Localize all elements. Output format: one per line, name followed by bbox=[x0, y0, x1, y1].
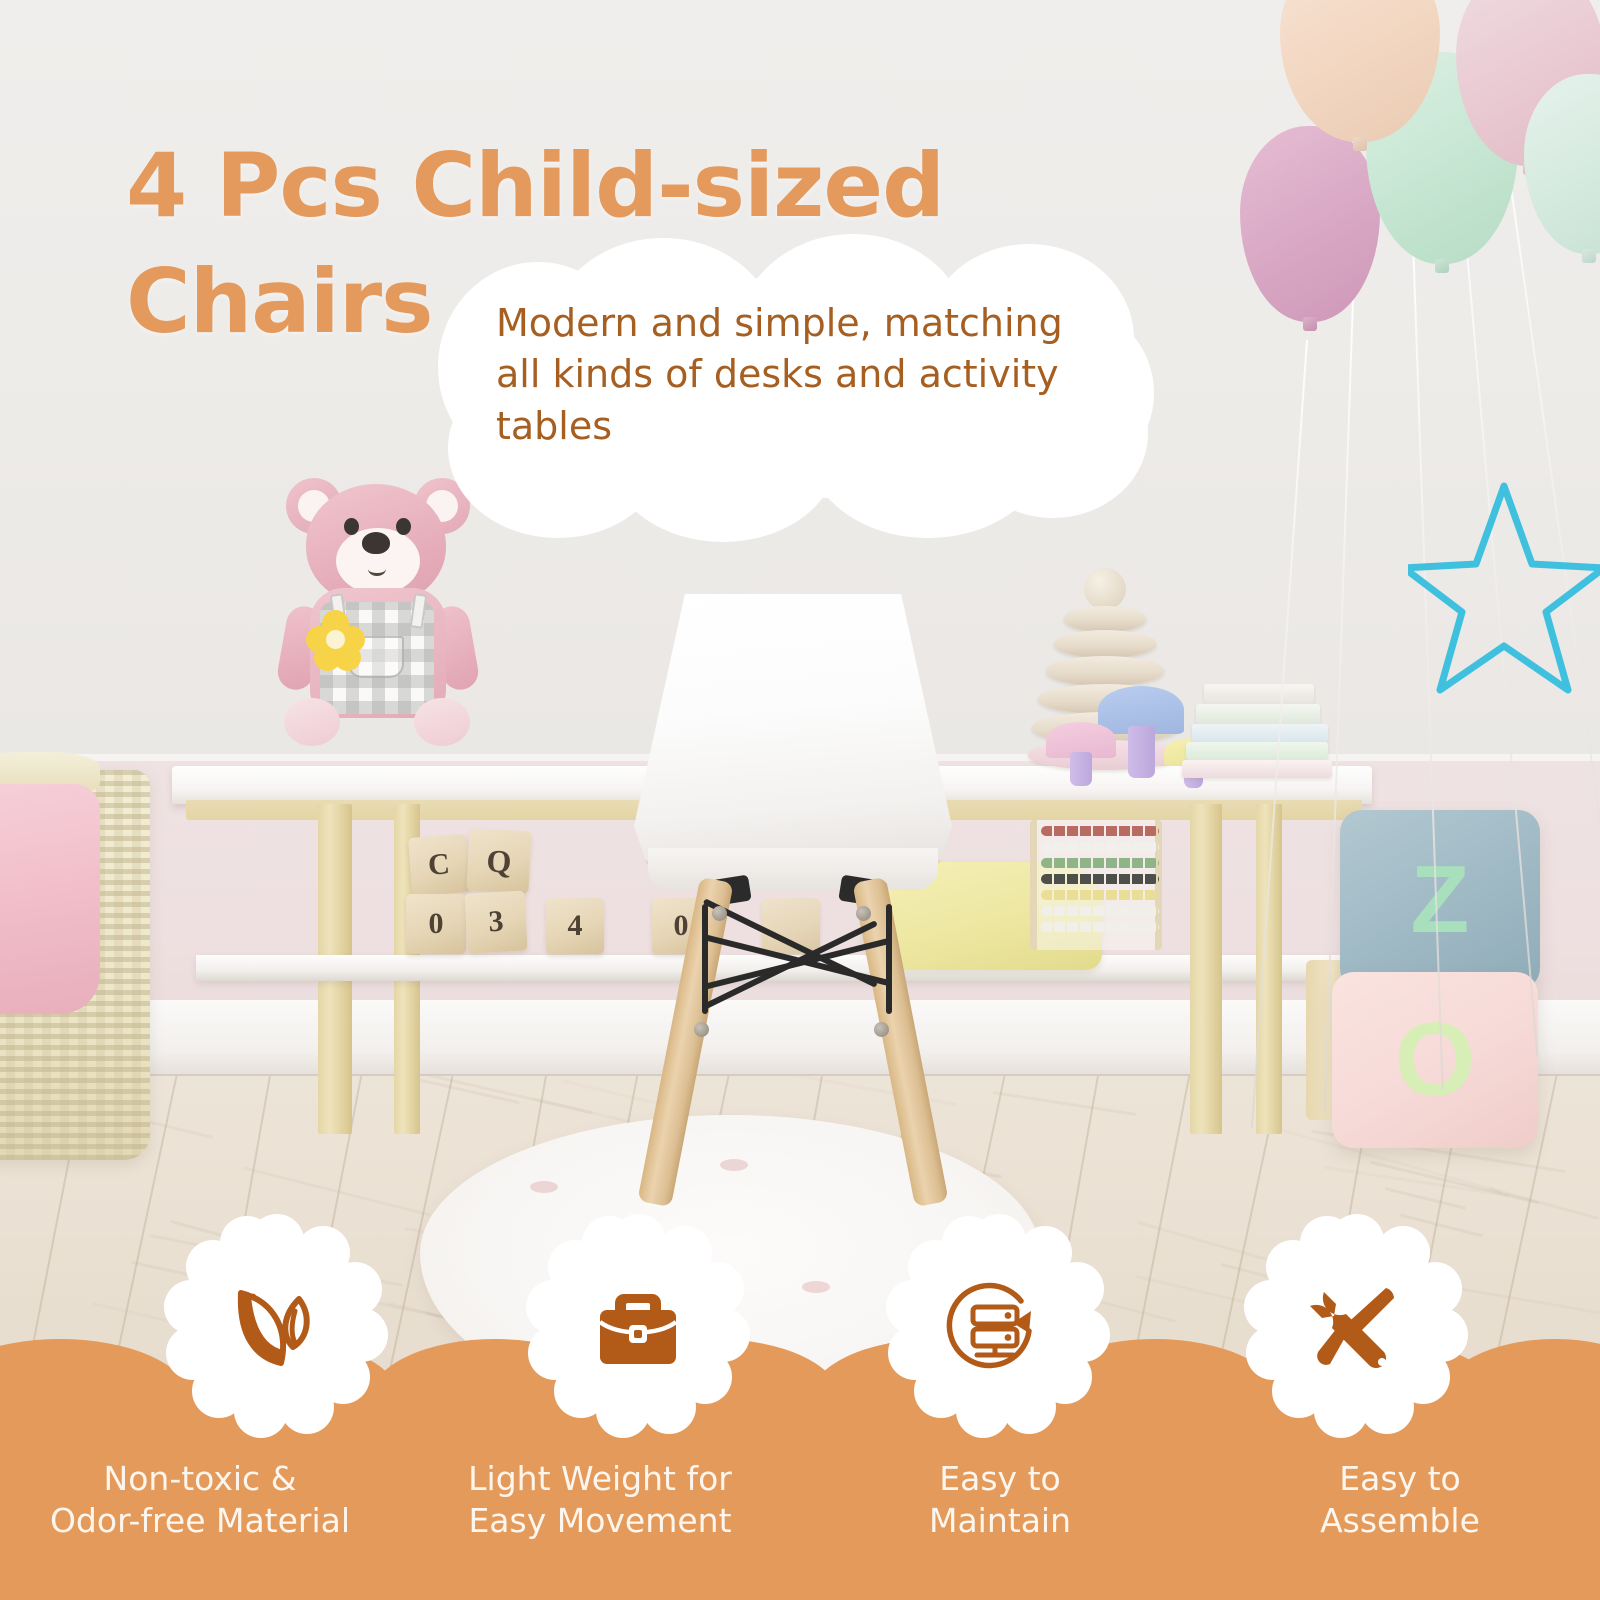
floor-grain bbox=[561, 1079, 662, 1106]
letter-block: C bbox=[408, 834, 470, 896]
letter-block: 3 bbox=[464, 890, 527, 953]
leaves-icon bbox=[214, 1264, 338, 1388]
cube-letter: Z bbox=[1340, 810, 1540, 990]
chair-screw bbox=[856, 906, 871, 921]
chair-backrest bbox=[634, 594, 952, 864]
feature-badges bbox=[0, 1218, 1600, 1448]
letter-block: 0 bbox=[406, 894, 466, 954]
floor-grain bbox=[244, 1166, 431, 1216]
stacking-ring bbox=[1054, 630, 1156, 658]
floor-grain bbox=[1385, 1187, 1466, 1210]
feature-item: Light Weight for Easy Movement bbox=[400, 1440, 800, 1600]
book bbox=[1204, 684, 1314, 704]
book bbox=[1186, 742, 1328, 760]
feature-item: Non-toxic & Odor-free Material bbox=[0, 1440, 400, 1600]
book bbox=[1182, 760, 1332, 778]
soft-cube-z: Z bbox=[1340, 810, 1540, 990]
feature-item: Easy to Maintain bbox=[800, 1440, 1200, 1600]
feature-badge-easy-assemble[interactable] bbox=[1248, 1218, 1464, 1434]
chair-screw bbox=[712, 906, 727, 921]
feature-badge-easy-maintain[interactable] bbox=[890, 1218, 1106, 1434]
feature-label: Easy to Assemble bbox=[1200, 1458, 1600, 1542]
feature-labels: Non-toxic & Odor-free Material Light Wei… bbox=[0, 1440, 1600, 1600]
soft-cube-o: O bbox=[1332, 972, 1538, 1148]
chair-screw bbox=[874, 1022, 889, 1037]
stacking-ball bbox=[1084, 568, 1126, 610]
stacking-ring bbox=[1046, 656, 1164, 686]
feature-label: Non-toxic & Odor-free Material bbox=[0, 1458, 400, 1542]
feature-badge-non-toxic[interactable] bbox=[168, 1218, 384, 1434]
briefcase-icon bbox=[576, 1264, 700, 1388]
feature-label: Easy to Maintain bbox=[800, 1458, 1200, 1542]
pink-blanket bbox=[0, 784, 100, 1014]
flower-accessory bbox=[306, 610, 366, 670]
book bbox=[1196, 704, 1320, 724]
mushroom-toy bbox=[1046, 722, 1116, 784]
floor-grain bbox=[993, 1091, 1137, 1116]
floor-grain bbox=[1370, 1161, 1539, 1205]
feature-item: Easy to Assemble bbox=[1200, 1440, 1600, 1600]
cube-letter: O bbox=[1332, 972, 1538, 1148]
floor-grain bbox=[1489, 1187, 1600, 1220]
table-leg bbox=[1256, 804, 1282, 1134]
letter-block: 4 bbox=[546, 898, 604, 954]
tools-icon bbox=[1294, 1264, 1418, 1388]
callout-text: Modern and simple, matching all kinds of… bbox=[496, 298, 1096, 452]
feature-badge-light-weight[interactable] bbox=[530, 1218, 746, 1434]
book bbox=[1192, 724, 1328, 742]
chair-screw bbox=[694, 1022, 709, 1037]
stacking-ring bbox=[1064, 606, 1146, 632]
chair-seat bbox=[648, 848, 938, 890]
feature-label: Light Weight for Easy Movement bbox=[400, 1458, 800, 1542]
table-leg bbox=[1190, 804, 1222, 1134]
wire-star-decor bbox=[1408, 478, 1600, 718]
product-infographic: C Q 0 3 4 0 bbox=[0, 0, 1600, 1600]
refresh-server-icon bbox=[936, 1264, 1060, 1388]
abacus-toy bbox=[1030, 820, 1162, 950]
headline-line-1: 4 Pcs Child-sized bbox=[126, 128, 1026, 244]
letter-block: Q bbox=[466, 828, 531, 893]
